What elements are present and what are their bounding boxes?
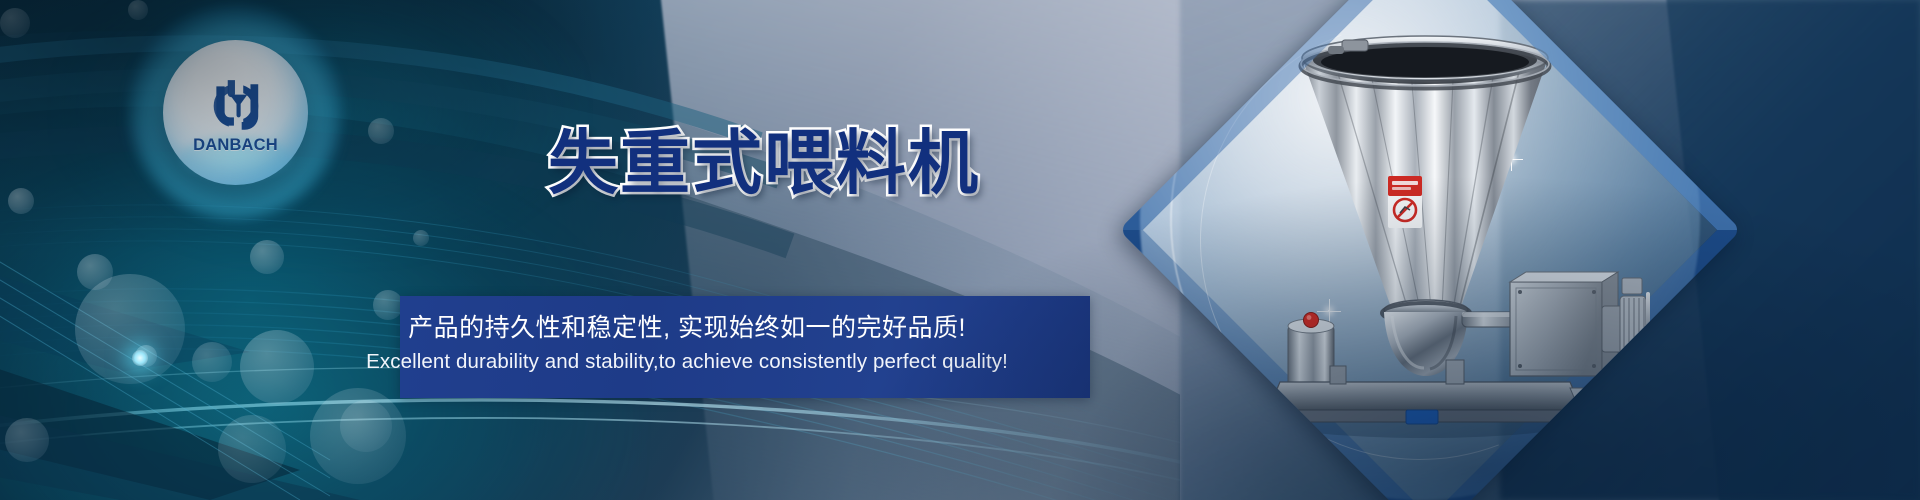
product-hero-banner: DANBACH 失重式喂料机 产品的持久性和稳定性, 实现始终如一的完好品质! … (0, 0, 1920, 500)
background-vignette (0, 0, 1920, 500)
